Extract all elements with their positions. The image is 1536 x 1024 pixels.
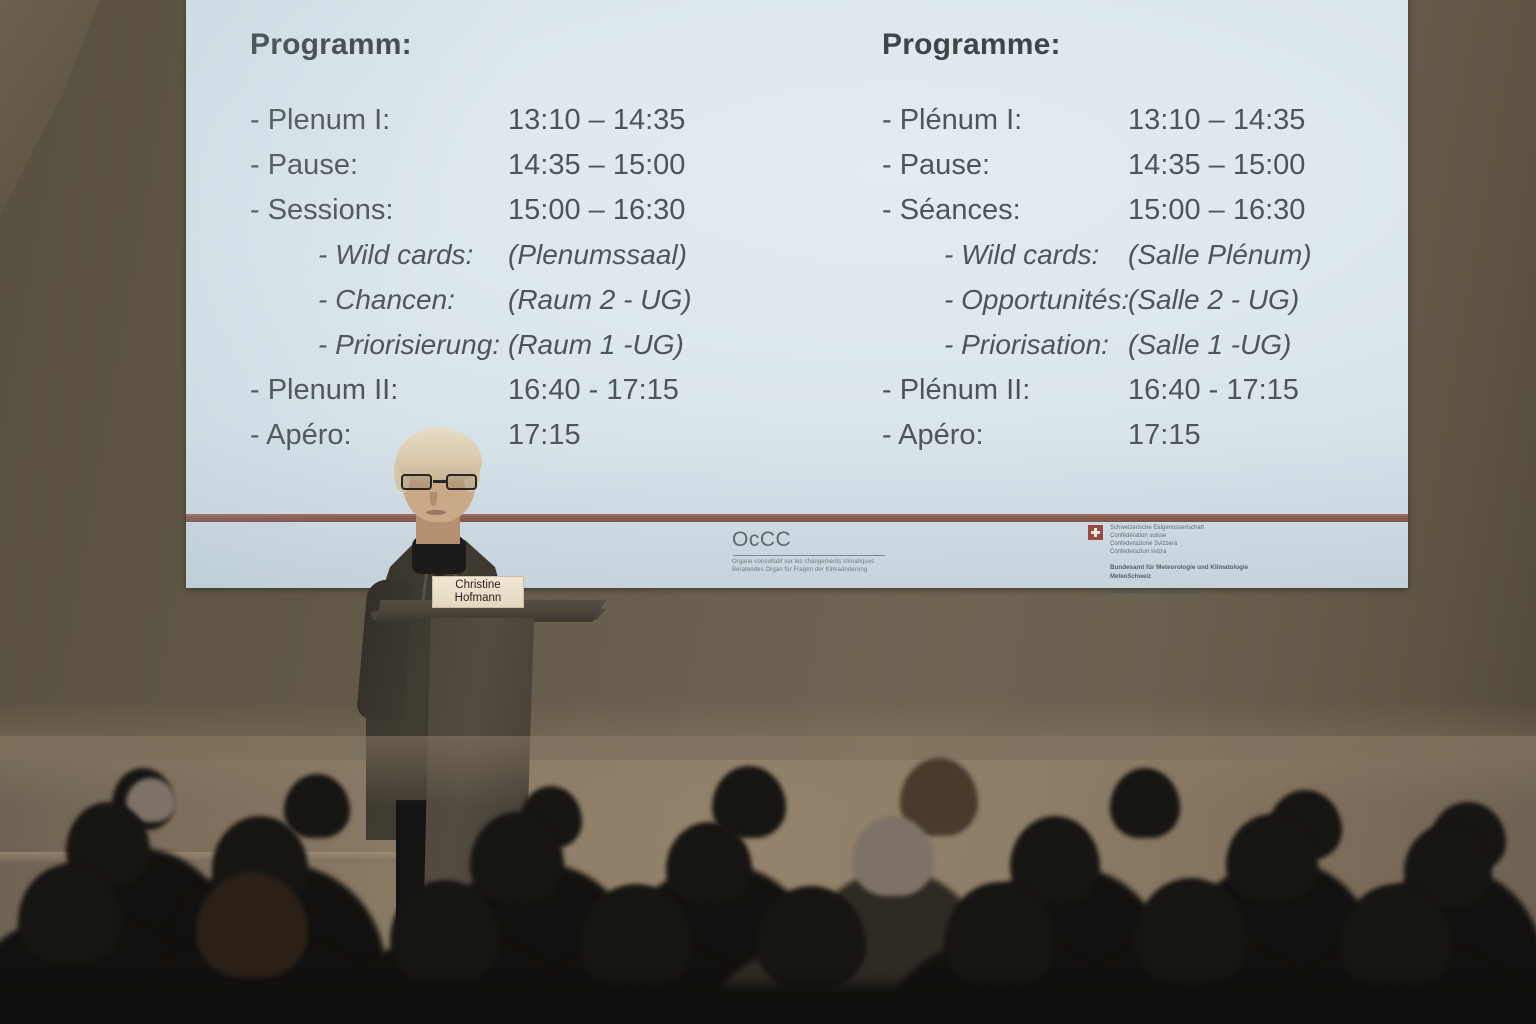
audience-foreground-row bbox=[0, 984, 1536, 1024]
nameplate-last-name: Hofmann bbox=[455, 592, 502, 605]
audience-head bbox=[284, 774, 350, 838]
swiss-lang-rm: Confederaziun svizra bbox=[1110, 548, 1318, 556]
slide-row: - Apéro: 17:15 bbox=[882, 419, 1402, 464]
row-label: - Apéro: bbox=[882, 419, 1128, 452]
row-label: - Plenum II: bbox=[250, 374, 508, 407]
row-label: - Plénum II: bbox=[882, 374, 1128, 407]
row-value: 16:40 - 17:15 bbox=[508, 374, 738, 407]
slide-subrow: - Wild cards: (Salle Plénum) bbox=[882, 239, 1402, 284]
slide-rows-german: - Plenum I: 13:10 – 14:35 - Pause: 14:35… bbox=[250, 104, 780, 464]
speaker-mouth bbox=[426, 510, 446, 515]
row-value: (Salle 2 - UG) bbox=[1128, 284, 1299, 316]
row-value: (Raum 1 -UG) bbox=[508, 329, 684, 361]
row-value: 13:10 – 14:35 bbox=[1128, 104, 1358, 137]
occc-rule bbox=[733, 555, 885, 556]
row-value: 14:35 – 15:00 bbox=[508, 149, 738, 182]
nameplate-first-name: Christine bbox=[455, 579, 500, 592]
glasses-icon bbox=[400, 474, 480, 491]
slide-row: - Plenum I: 13:10 – 14:35 bbox=[250, 104, 780, 149]
row-label: - Plénum I: bbox=[882, 104, 1128, 137]
row-label: - Plenum I: bbox=[250, 104, 508, 137]
audience-head bbox=[1110, 768, 1180, 838]
row-value: (Plenumssaal) bbox=[508, 239, 687, 271]
glasses-lens-right bbox=[446, 474, 477, 490]
swiss-office-meteo-line1: Bundesamt für Meteorologie und Klimatolo… bbox=[1110, 564, 1318, 573]
swiss-lang-fr: Confédération suisse bbox=[1110, 532, 1318, 540]
swiss-office-meteo-line2: MeteoSchweiz bbox=[1110, 573, 1318, 581]
slide-row: - Sessions: 15:00 – 16:30 bbox=[250, 194, 780, 239]
row-value: 15:00 – 16:30 bbox=[508, 194, 738, 227]
glasses-bridge bbox=[433, 480, 447, 483]
swiss-lang-de: Schweizerische Eidgenossenschaft bbox=[1110, 524, 1318, 532]
speaker-nose bbox=[430, 492, 437, 506]
row-label: - Wild cards: bbox=[944, 239, 1128, 271]
slide-subrow: - Chancen: (Raum 2 - UG) bbox=[250, 284, 780, 329]
slide-subrow: - Priorisation: (Salle 1 -UG) bbox=[882, 329, 1402, 374]
glasses-lens-left bbox=[401, 474, 432, 490]
slide-row: - Séances: 15:00 – 16:30 bbox=[882, 194, 1402, 239]
row-label: - Sessions: bbox=[250, 194, 508, 227]
occc-subtitle-de: Beratendes Organ für Fragen der Klimaänd… bbox=[732, 566, 912, 574]
swiss-lang-it: Confederazione Svizzera bbox=[1110, 540, 1318, 548]
row-label: - Priorisation: bbox=[944, 329, 1128, 361]
row-value: (Raum 2 - UG) bbox=[508, 284, 692, 316]
swiss-cross-icon bbox=[1088, 525, 1103, 540]
slide-row: - Plénum I: 13:10 – 14:35 bbox=[882, 104, 1402, 149]
slide-subrow: - Wild cards: (Plenumssaal) bbox=[250, 239, 780, 284]
slide-subrow: - Priorisierung: (Raum 1 -UG) bbox=[250, 329, 780, 374]
audience bbox=[0, 736, 1536, 1024]
occc-wordmark: OcCC bbox=[732, 528, 912, 552]
row-value: 13:10 – 14:35 bbox=[508, 104, 738, 137]
row-value: (Salle 1 -UG) bbox=[1128, 329, 1291, 361]
conference-hall-scene: Programm: - Plenum I: 13:10 – 14:35 - Pa… bbox=[0, 0, 1536, 1024]
swiss-confederation-logo: Schweizerische Eidgenossenschaft Confédé… bbox=[1088, 524, 1318, 596]
slide-subrow: - Opportunités: (Salle 2 - UG) bbox=[882, 284, 1402, 329]
row-label: - Priorisierung: bbox=[318, 329, 508, 361]
row-value: 14:35 – 15:00 bbox=[1128, 149, 1358, 182]
occc-subtitle-fr: Organe consultatif sur les changements c… bbox=[732, 558, 912, 566]
slide-rows-french: - Plénum I: 13:10 – 14:35 - Pause: 14:35… bbox=[882, 104, 1402, 464]
slide-title-french: Programme: bbox=[882, 28, 1061, 62]
row-label: - Wild cards: bbox=[318, 239, 508, 271]
slide-row: - Pause: 14:35 – 15:00 bbox=[882, 149, 1402, 194]
row-label: - Séances: bbox=[882, 194, 1128, 227]
row-value: 17:15 bbox=[1128, 419, 1358, 452]
slide-row: - Plenum II: 16:40 - 17:15 bbox=[250, 374, 780, 419]
slide-row: - Pause: 14:35 – 15:00 bbox=[250, 149, 780, 194]
row-label: - Chancen: bbox=[318, 284, 508, 316]
swiss-logo-text: Schweizerische Eidgenossenschaft Confédé… bbox=[1110, 524, 1318, 596]
speaker-nameplate: Christine Hofmann bbox=[432, 576, 524, 608]
occc-logo: OcCC Organe consultatif sur les changeme… bbox=[732, 528, 912, 574]
swiss-office-bafu: Bundesamt für Umwelt BAFU bbox=[1110, 588, 1318, 597]
slide-title-german: Programm: bbox=[250, 28, 412, 62]
slide-row: - Plénum II: 16:40 - 17:15 bbox=[882, 374, 1402, 419]
row-label: - Opportunités: bbox=[944, 284, 1128, 316]
row-value: 16:40 - 17:15 bbox=[1128, 374, 1358, 407]
row-value: 15:00 – 16:30 bbox=[1128, 194, 1358, 227]
row-label: - Pause: bbox=[250, 149, 508, 182]
row-label: - Pause: bbox=[882, 149, 1128, 182]
row-value: (Salle Plénum) bbox=[1128, 239, 1312, 271]
